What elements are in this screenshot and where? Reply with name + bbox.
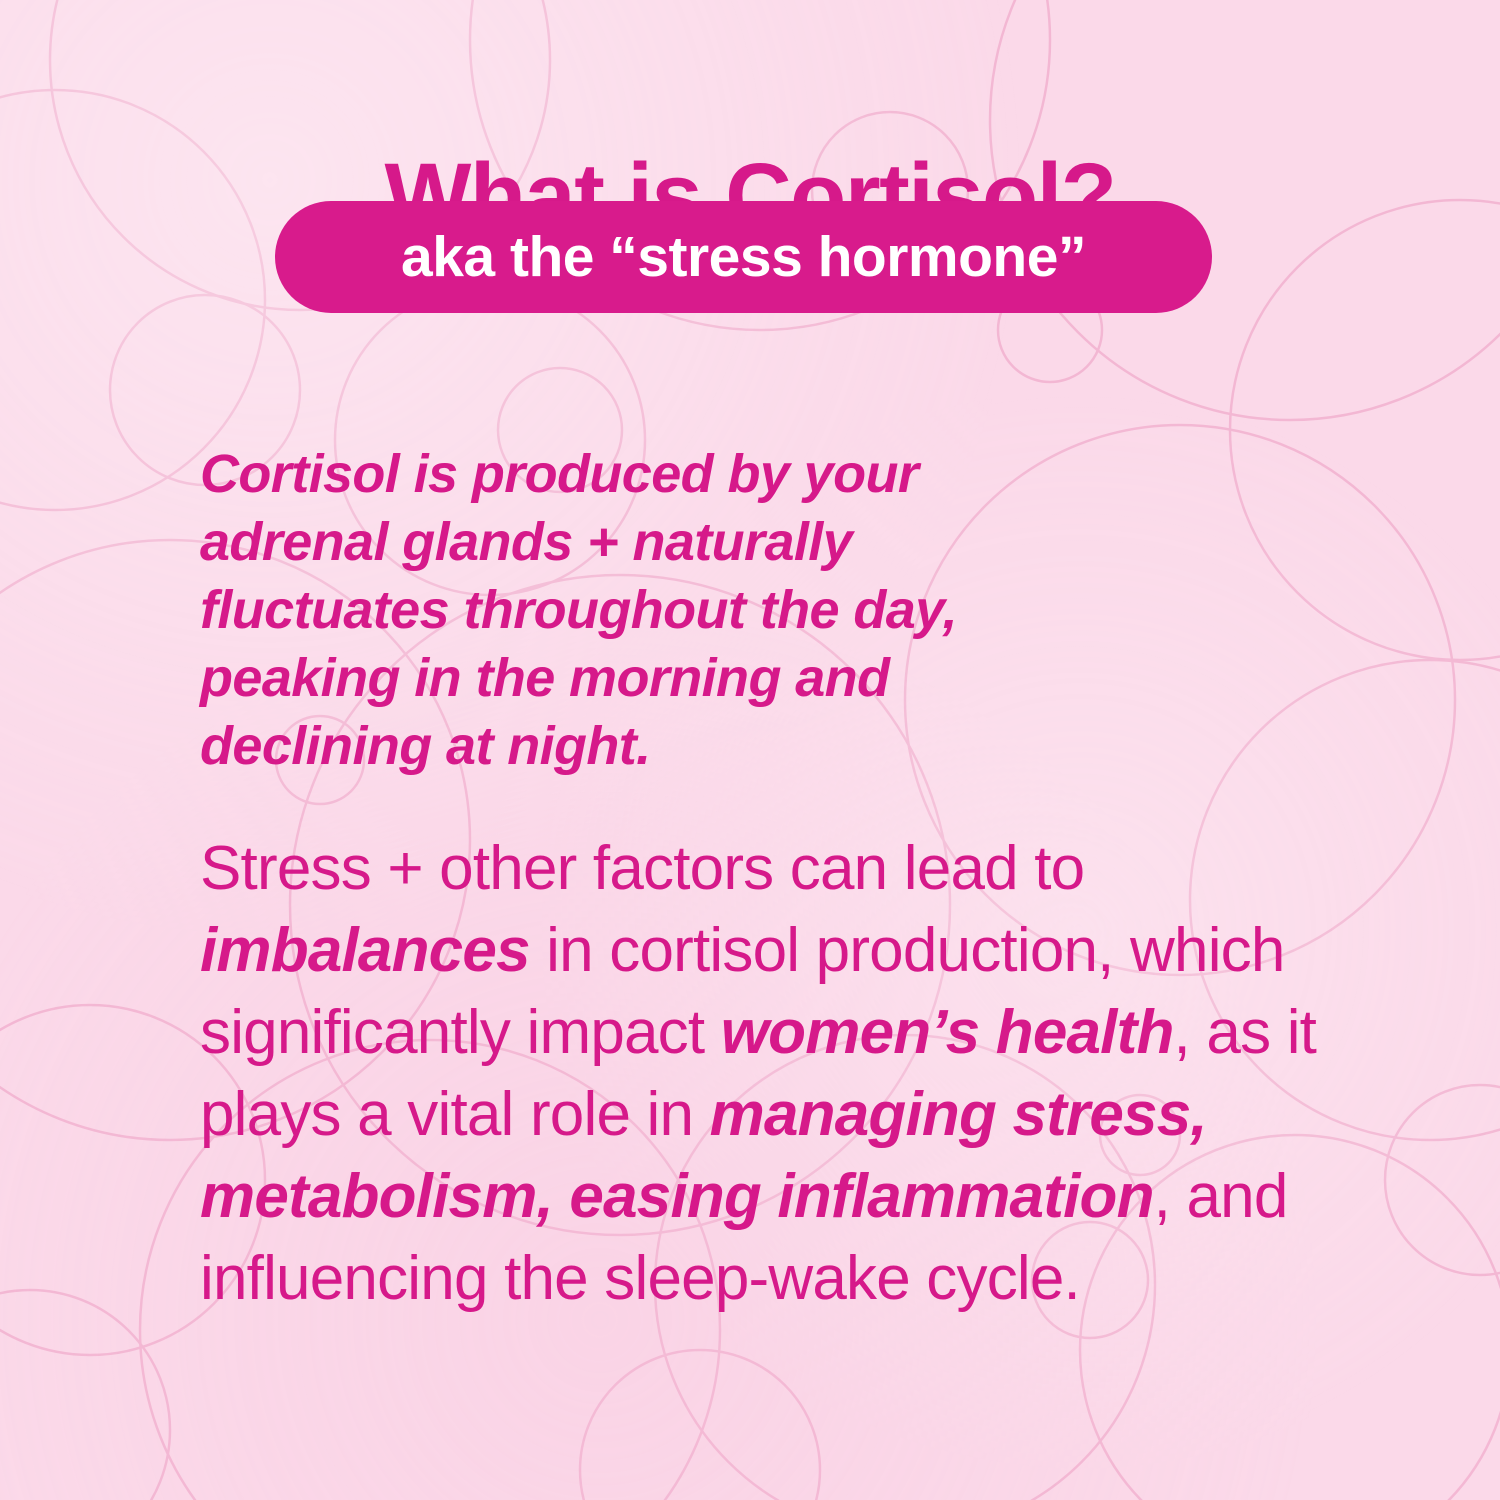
subtitle-pill: aka the “stress hormone”: [275, 201, 1212, 313]
infographic-card: What is Cortisol? aka the “stress hormon…: [0, 0, 1500, 1500]
detail-paragraph: Stress + other factors can lead to imbal…: [200, 828, 1335, 1320]
content-stack: What is Cortisol? aka the “stress hormon…: [0, 0, 1500, 1500]
subtitle-pill-label: aka the “stress hormone”: [401, 229, 1086, 286]
intro-paragraph: Cortisol is produced by your adrenal gla…: [200, 440, 1060, 780]
emphasized-phrase: women’s health: [721, 998, 1174, 1067]
body-text-run: Stress + other factors can lead to: [200, 834, 1084, 903]
emphasized-phrase: imbalances: [200, 916, 530, 985]
